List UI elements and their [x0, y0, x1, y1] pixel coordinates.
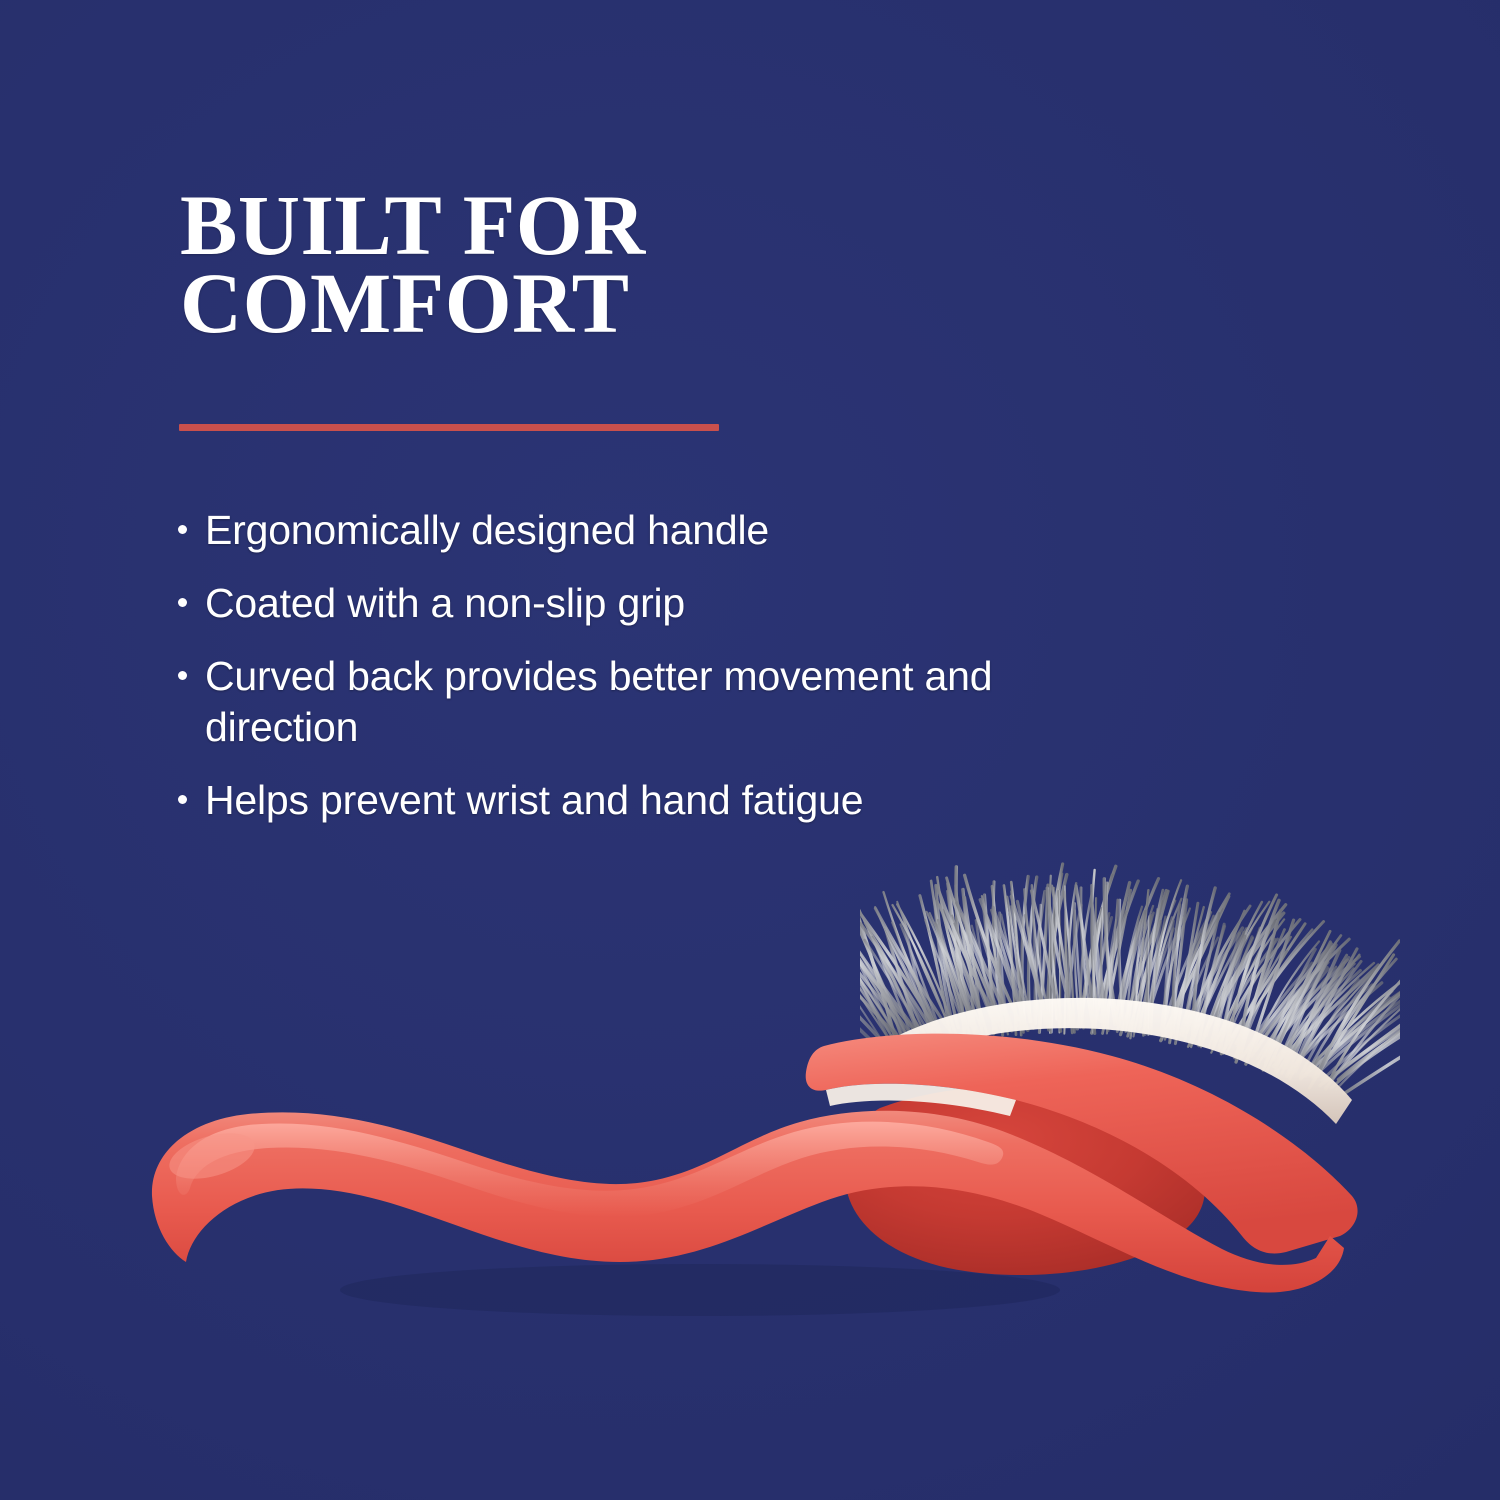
list-item: Helps prevent wrist and hand fatigue: [178, 775, 998, 826]
bullet-dot-icon: [178, 671, 187, 680]
feature-text: Coated with a non-slip grip: [205, 580, 685, 626]
red-accent-rule: [179, 424, 719, 431]
bristle-backing-pad: [884, 998, 1352, 1124]
bullet-dot-icon: [178, 795, 187, 804]
list-item: Ergonomically designed handle: [178, 505, 998, 556]
headline-line-1: BUILT FOR: [180, 186, 940, 264]
page-title: BUILT FOR COMFORT: [180, 186, 940, 342]
handle-tip-gloss: [164, 1125, 260, 1188]
feature-text: Helps prevent wrist and hand fatigue: [205, 777, 863, 823]
bullet-dot-icon: [178, 598, 187, 607]
brush-handle: [152, 1111, 1344, 1293]
brush-head-plate: [806, 1034, 1358, 1254]
list-item: Coated with a non-slip grip: [178, 578, 998, 629]
headline-line-2: COMFORT: [180, 264, 940, 342]
feature-text: Curved back provides better movement and…: [205, 653, 992, 750]
contact-shadow: [340, 1264, 1060, 1316]
handle-highlight: [176, 1122, 1003, 1217]
bristle-pins: [791, 864, 1470, 1094]
head-pad-edge: [826, 1084, 1016, 1116]
promo-canvas: BUILT FOR COMFORT Ergonomically designed…: [0, 0, 1500, 1500]
brush-head-dome: [845, 1087, 1205, 1275]
list-item: Curved back provides better movement and…: [178, 651, 998, 753]
feature-text: Ergonomically designed handle: [205, 507, 769, 553]
feature-list: Ergonomically designed handle Coated wit…: [178, 505, 998, 826]
bullet-dot-icon: [178, 525, 187, 534]
